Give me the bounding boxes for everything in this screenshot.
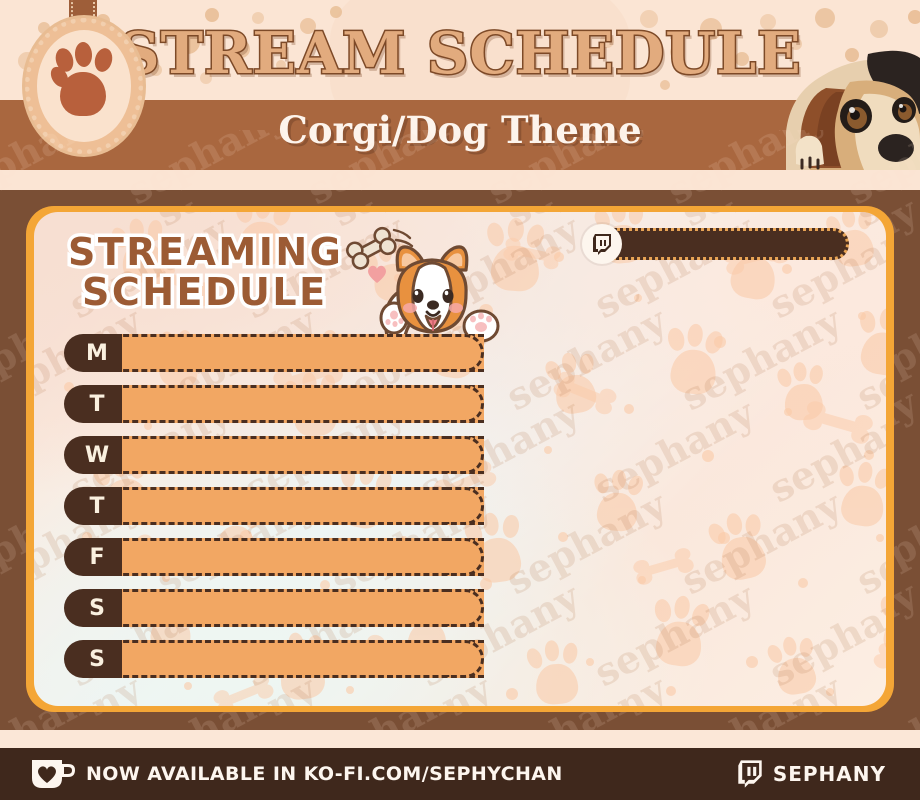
schedule-row[interactable]: T [64, 385, 484, 423]
paw-icon [48, 42, 120, 128]
paw-print-icon [587, 468, 651, 538]
twitch-handle: SEPHANY [737, 748, 886, 800]
schedule-row-end [446, 640, 484, 678]
paw-print-icon [658, 321, 733, 402]
day-label: T [64, 487, 122, 525]
schedule-row[interactable]: S [64, 589, 484, 627]
day-label-cap: W [64, 436, 122, 474]
kofi-label: NOW AVAILABLE IN KO-FI.COM/SEPHYCHAN [86, 748, 563, 800]
day-label-cap: S [64, 589, 122, 627]
paw-print-icon [830, 458, 886, 534]
day-label: S [64, 589, 122, 627]
dot-decoration [558, 532, 568, 542]
day-label-cap: M [64, 334, 122, 372]
schedule-row-field[interactable] [114, 334, 484, 372]
dot-decoration [826, 688, 834, 696]
dot-decoration [718, 532, 730, 544]
day-label-cap: S [64, 640, 122, 678]
dot-decoration [702, 450, 714, 462]
dot-decoration [784, 408, 792, 416]
schedule-row-field[interactable] [114, 538, 484, 576]
schedule-rows: MTWTFSS [64, 334, 484, 691]
dot-decoration [864, 450, 874, 460]
schedule-row[interactable]: W [64, 436, 484, 474]
dot-decoration [554, 252, 564, 262]
schedule-row-field[interactable] [114, 436, 484, 474]
schedule-row-end [446, 385, 484, 423]
schedule-row-end [446, 487, 484, 525]
twitch-icon [737, 760, 763, 788]
dot-decoration [746, 656, 758, 668]
schedule-row[interactable]: S [64, 640, 484, 678]
dot-decoration [714, 336, 726, 348]
twitch-username-field[interactable] [589, 228, 849, 260]
schedule-row-field[interactable] [114, 589, 484, 627]
day-label-cap: F [64, 538, 122, 576]
schedule-row-field[interactable] [114, 640, 484, 678]
screenshot-root: STREAM SCHEDULE Corgi/Dog Theme [0, 0, 920, 800]
day-label: W [64, 436, 122, 474]
footer: NOW AVAILABLE IN KO-FI.COM/SEPHYCHAN SEP… [0, 748, 920, 800]
dot-decoration [544, 446, 552, 454]
day-label: S [64, 640, 122, 678]
schedule-panel: sephanysephanysephanysephanysephanysepha… [34, 212, 886, 706]
day-label: F [64, 538, 122, 576]
paw-print-icon [763, 632, 829, 703]
dot-decoration [624, 404, 634, 414]
paw-print-icon [643, 592, 720, 675]
twitch-icon[interactable] [582, 224, 622, 264]
schedule-row[interactable]: T [64, 487, 484, 525]
bone-pattern-icon [801, 399, 874, 445]
twitch-username-label: SEPHANY [773, 762, 886, 786]
day-label: M [64, 334, 122, 372]
dot-decoration [798, 578, 808, 588]
schedule-heading-line2: SCHEDULE [82, 272, 398, 312]
schedule-row-end [446, 589, 484, 627]
dot-decoration [638, 576, 646, 584]
paw-print-icon [849, 303, 886, 383]
dot-decoration [506, 688, 518, 700]
dot-decoration [666, 686, 676, 696]
schedule-row[interactable]: F [64, 538, 484, 576]
kofi-cup-icon [30, 758, 76, 790]
schedule-frame: sephanysephanysephanysephanysephanysepha… [0, 190, 920, 730]
schedule-row[interactable]: M [64, 334, 484, 372]
schedule-row-end [446, 334, 484, 372]
paw-medallion [18, 0, 148, 164]
header: STREAM SCHEDULE Corgi/Dog Theme [0, 0, 920, 190]
dot-decoration [876, 534, 884, 542]
dot-decoration [858, 312, 866, 320]
day-label-cap: T [64, 385, 122, 423]
dot-decoration [782, 264, 792, 274]
schedule-row-end [446, 436, 484, 474]
schedule-row-end [446, 538, 484, 576]
footer-gap [0, 730, 920, 748]
schedule-row-field[interactable] [114, 385, 484, 423]
paw-print-icon [523, 637, 590, 706]
day-label-cap: T [64, 487, 122, 525]
schedule-row-field[interactable] [114, 487, 484, 525]
dot-decoration [634, 294, 642, 302]
dot-decoration [586, 658, 594, 666]
beagle-dog-icon [780, 36, 920, 170]
day-label: T [64, 385, 122, 423]
paw-print-icon [703, 506, 781, 589]
